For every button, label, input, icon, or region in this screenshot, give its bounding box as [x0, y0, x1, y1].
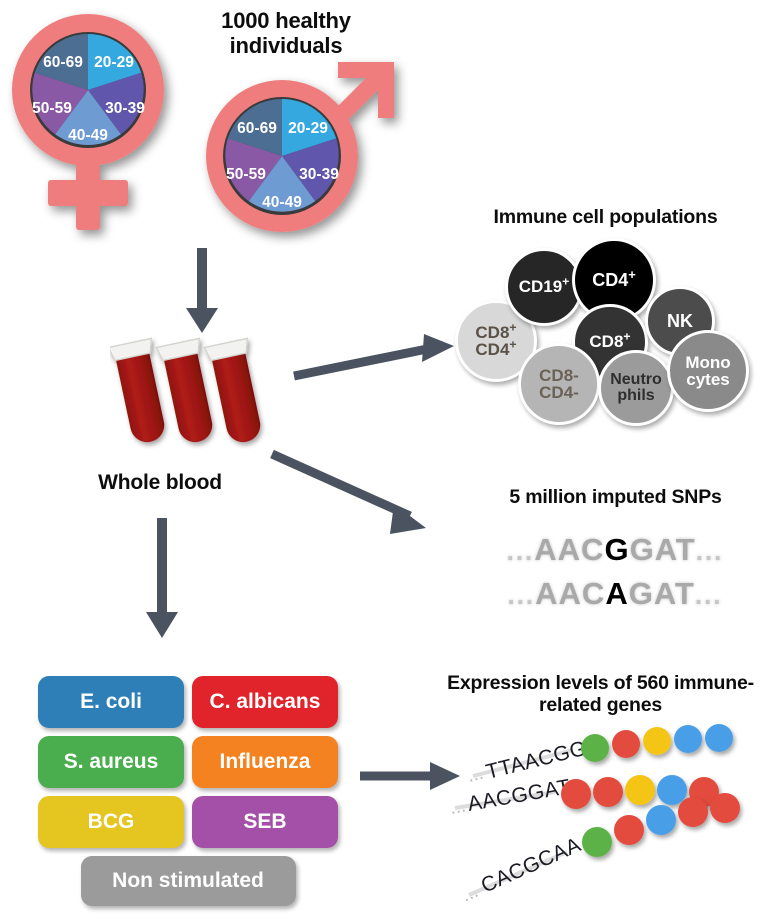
- dna-ellipsis: ...: [458, 881, 481, 907]
- snp-sequence-block: ...AACGGAT... ...AACAGAT...: [470, 528, 760, 616]
- dna-ellipsis: ...: [448, 795, 467, 818]
- snp-variant-base: A: [605, 576, 628, 611]
- cell-label-cd19pos: CD19+: [519, 278, 570, 295]
- cell-neutrophils: Neutro phils: [598, 350, 674, 426]
- stimulus-label: Non stimulated: [112, 869, 264, 893]
- gene-expression-dna-strands: ... TTAACGG ... AACGGAT: [455, 730, 771, 910]
- age-label-60-69: 60-69: [237, 120, 277, 137]
- cell-label-cd8neg-cd4neg: CD8- CD4-: [539, 367, 579, 402]
- cell-text-line1: CD8-: [539, 366, 579, 385]
- stimulus-bcg[interactable]: BCG: [38, 796, 184, 848]
- superscript-plus: +: [623, 330, 630, 344]
- dna-sequence-1: TTAACGG: [484, 737, 589, 784]
- cell-label-nk: NK: [667, 312, 693, 330]
- snp-suffix: GAT: [630, 532, 696, 567]
- age-label-30-39: 30-39: [299, 166, 339, 183]
- stimulus-label: C. albicans: [210, 690, 321, 714]
- ellipsis-right: ...: [695, 580, 723, 610]
- dna-sequence-3: CACGCAA: [478, 833, 585, 897]
- page-title-immune-cells: Immune cell populations: [440, 206, 771, 228]
- figure-canvas: 20-29 30-39 40-49 50-59 60-69 20-29 30-3…: [0, 0, 771, 922]
- cell-text-line2: cytes: [686, 370, 729, 389]
- stimulus-ecoli[interactable]: E. coli: [38, 676, 184, 728]
- arrow-stimuli-to-expression: [358, 758, 463, 794]
- superscript-plus: +: [628, 267, 636, 282]
- stimulation-conditions-panel: E. coli C. albicans S. aureus Influenza …: [38, 676, 338, 906]
- dna-beads-1: [581, 724, 733, 762]
- cell-label-cd8pos: CD8+: [589, 333, 630, 350]
- age-label-50-59: 50-59: [32, 100, 72, 117]
- snp-sequence-row: ...AACGGAT...: [470, 528, 760, 572]
- blood-tubes-illustration: [110, 336, 280, 471]
- cell-text-line1: Mono: [685, 353, 730, 372]
- cell-label-cd8pos-cd4pos: CD8+ CD4+: [475, 324, 516, 359]
- cell-text-line1: CD8: [475, 323, 509, 342]
- arrow-blood-to-stimuli: [142, 518, 182, 643]
- cell-text-line1: Neutro: [610, 371, 662, 388]
- age-label-50-59: 50-59: [226, 166, 266, 183]
- stimulus-label: S. aureus: [64, 750, 159, 774]
- cell-label-neutrophils: Neutro phils: [610, 372, 662, 405]
- snp-variant-base: G: [604, 532, 629, 567]
- stimulus-label: Influenza: [219, 750, 310, 774]
- arrow-blood-to-snps: [270, 448, 450, 543]
- cell-text-line1: CD4: [592, 270, 628, 290]
- cell-text-line2: CD4: [475, 340, 509, 359]
- female-gender-symbol: 20-29 30-39 40-49 50-59 60-69: [8, 8, 198, 238]
- age-label-40-49: 40-49: [68, 127, 108, 144]
- age-label-20-29: 20-29: [288, 120, 328, 137]
- snp-prefix: AAC: [534, 532, 604, 567]
- cell-monocytes: Mono cytes: [667, 330, 749, 412]
- cell-label-monocytes: Mono cytes: [685, 354, 730, 389]
- stimulus-label: SEB: [243, 810, 286, 834]
- stimulus-non-stimulated[interactable]: Non stimulated: [81, 856, 296, 906]
- stimulus-influenza[interactable]: Influenza: [192, 736, 338, 788]
- male-gender-symbol: 20-29 30-39 40-49 50-59 60-69: [198, 56, 408, 256]
- age-label-20-29: 20-29: [94, 54, 134, 71]
- age-label-60-69: 60-69: [43, 54, 83, 71]
- superscript-plus: +: [562, 275, 569, 289]
- snp-sequence-row: ...AACAGAT...: [470, 572, 760, 616]
- stimulus-calbicans[interactable]: C. albicans: [192, 676, 338, 728]
- label-whole-blood: Whole blood: [60, 471, 260, 495]
- cell-label-cd4pos: CD4+: [592, 271, 636, 289]
- page-title-expression: Expression levels of 560 immune-related …: [430, 672, 771, 717]
- arrow-blood-to-immune: [292, 330, 462, 390]
- age-label-30-39: 30-39: [105, 100, 145, 117]
- stimulus-label: E. coli: [80, 690, 142, 714]
- cell-text-line1: CD19: [519, 277, 562, 296]
- arrow-cohort-to-blood: [182, 248, 222, 338]
- cell-text-line1: CD8: [589, 332, 623, 351]
- snp-prefix: AAC: [535, 576, 605, 611]
- page-title-snps: 5 million imputed SNPs: [460, 486, 771, 508]
- dna-ellipsis: ...: [465, 763, 485, 787]
- dna-strand-1: ... TTAACGG: [465, 724, 733, 787]
- ellipsis-left: ...: [507, 580, 535, 610]
- superscript-plus: +: [509, 320, 516, 334]
- cell-text-line2: CD4-: [539, 383, 579, 402]
- cell-cd19pos: CD19+: [505, 248, 583, 326]
- age-label-40-49: 40-49: [262, 194, 302, 211]
- stimulus-saureus[interactable]: S. aureus: [38, 736, 184, 788]
- cell-text-line2: phils: [617, 387, 654, 404]
- cell-cd8neg-cd4neg: CD8- CD4-: [518, 343, 600, 425]
- page-title-individuals: 1000 healthy individuals: [176, 8, 396, 59]
- ellipsis-left: ...: [507, 536, 535, 566]
- ellipsis-right: ...: [696, 536, 724, 566]
- immune-cell-population-cluster: CD8+ CD4+ CD19+ CD4+ CD8+ NK: [455, 238, 771, 428]
- superscript-plus: +: [509, 337, 516, 351]
- stimulus-label: BCG: [88, 810, 135, 834]
- stimulus-seb[interactable]: SEB: [192, 796, 338, 848]
- snp-suffix: GAT: [629, 576, 695, 611]
